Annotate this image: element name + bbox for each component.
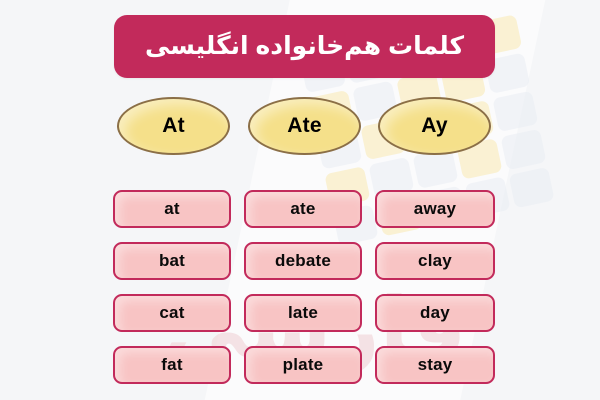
word-cell: ate [244,190,362,228]
page-title: کلمات هم‌خانواده انگلیسی [145,32,464,61]
word-cell: debate [244,242,362,280]
column-header-row: At Ate Ay [113,97,495,157]
word-label: plate [283,355,324,375]
word-label: fat [161,355,182,375]
word-cell: at [113,190,231,228]
word-label: cat [159,303,184,323]
word-cell: plate [244,346,362,384]
word-cell: day [375,294,495,332]
title-banner: کلمات هم‌خانواده انگلیسی [114,15,495,78]
word-cell: bat [113,242,231,280]
word-label: stay [418,355,453,375]
grid-tile [492,91,538,133]
word-cell: fat [113,346,231,384]
word-label: at [164,199,180,219]
word-cell: clay [375,242,495,280]
word-label: late [288,303,318,323]
grid-tile [500,129,546,171]
word-grid: at ate away bat debate clay cat late day… [113,190,495,384]
word-cell: late [244,294,362,332]
word-label: bat [159,251,185,271]
word-label: ate [290,199,315,219]
column-header-at: At [117,97,230,155]
column-header-ate: Ate [248,97,361,155]
word-cell: stay [375,346,495,384]
word-label: clay [418,251,452,271]
column-header-label: Ate [287,114,321,138]
column-header-label: Ay [421,114,447,138]
column-header-label: At [162,114,185,138]
word-cell: away [375,190,495,228]
word-cell: cat [113,294,231,332]
word-label: day [420,303,450,323]
grid-tile [509,167,555,209]
word-label: away [414,199,456,219]
word-family-poster: فارسی کلمات هم‌خانواده انگلیسی At Ate Ay… [0,0,600,400]
word-label: debate [275,251,331,271]
column-header-ay: Ay [378,97,491,155]
